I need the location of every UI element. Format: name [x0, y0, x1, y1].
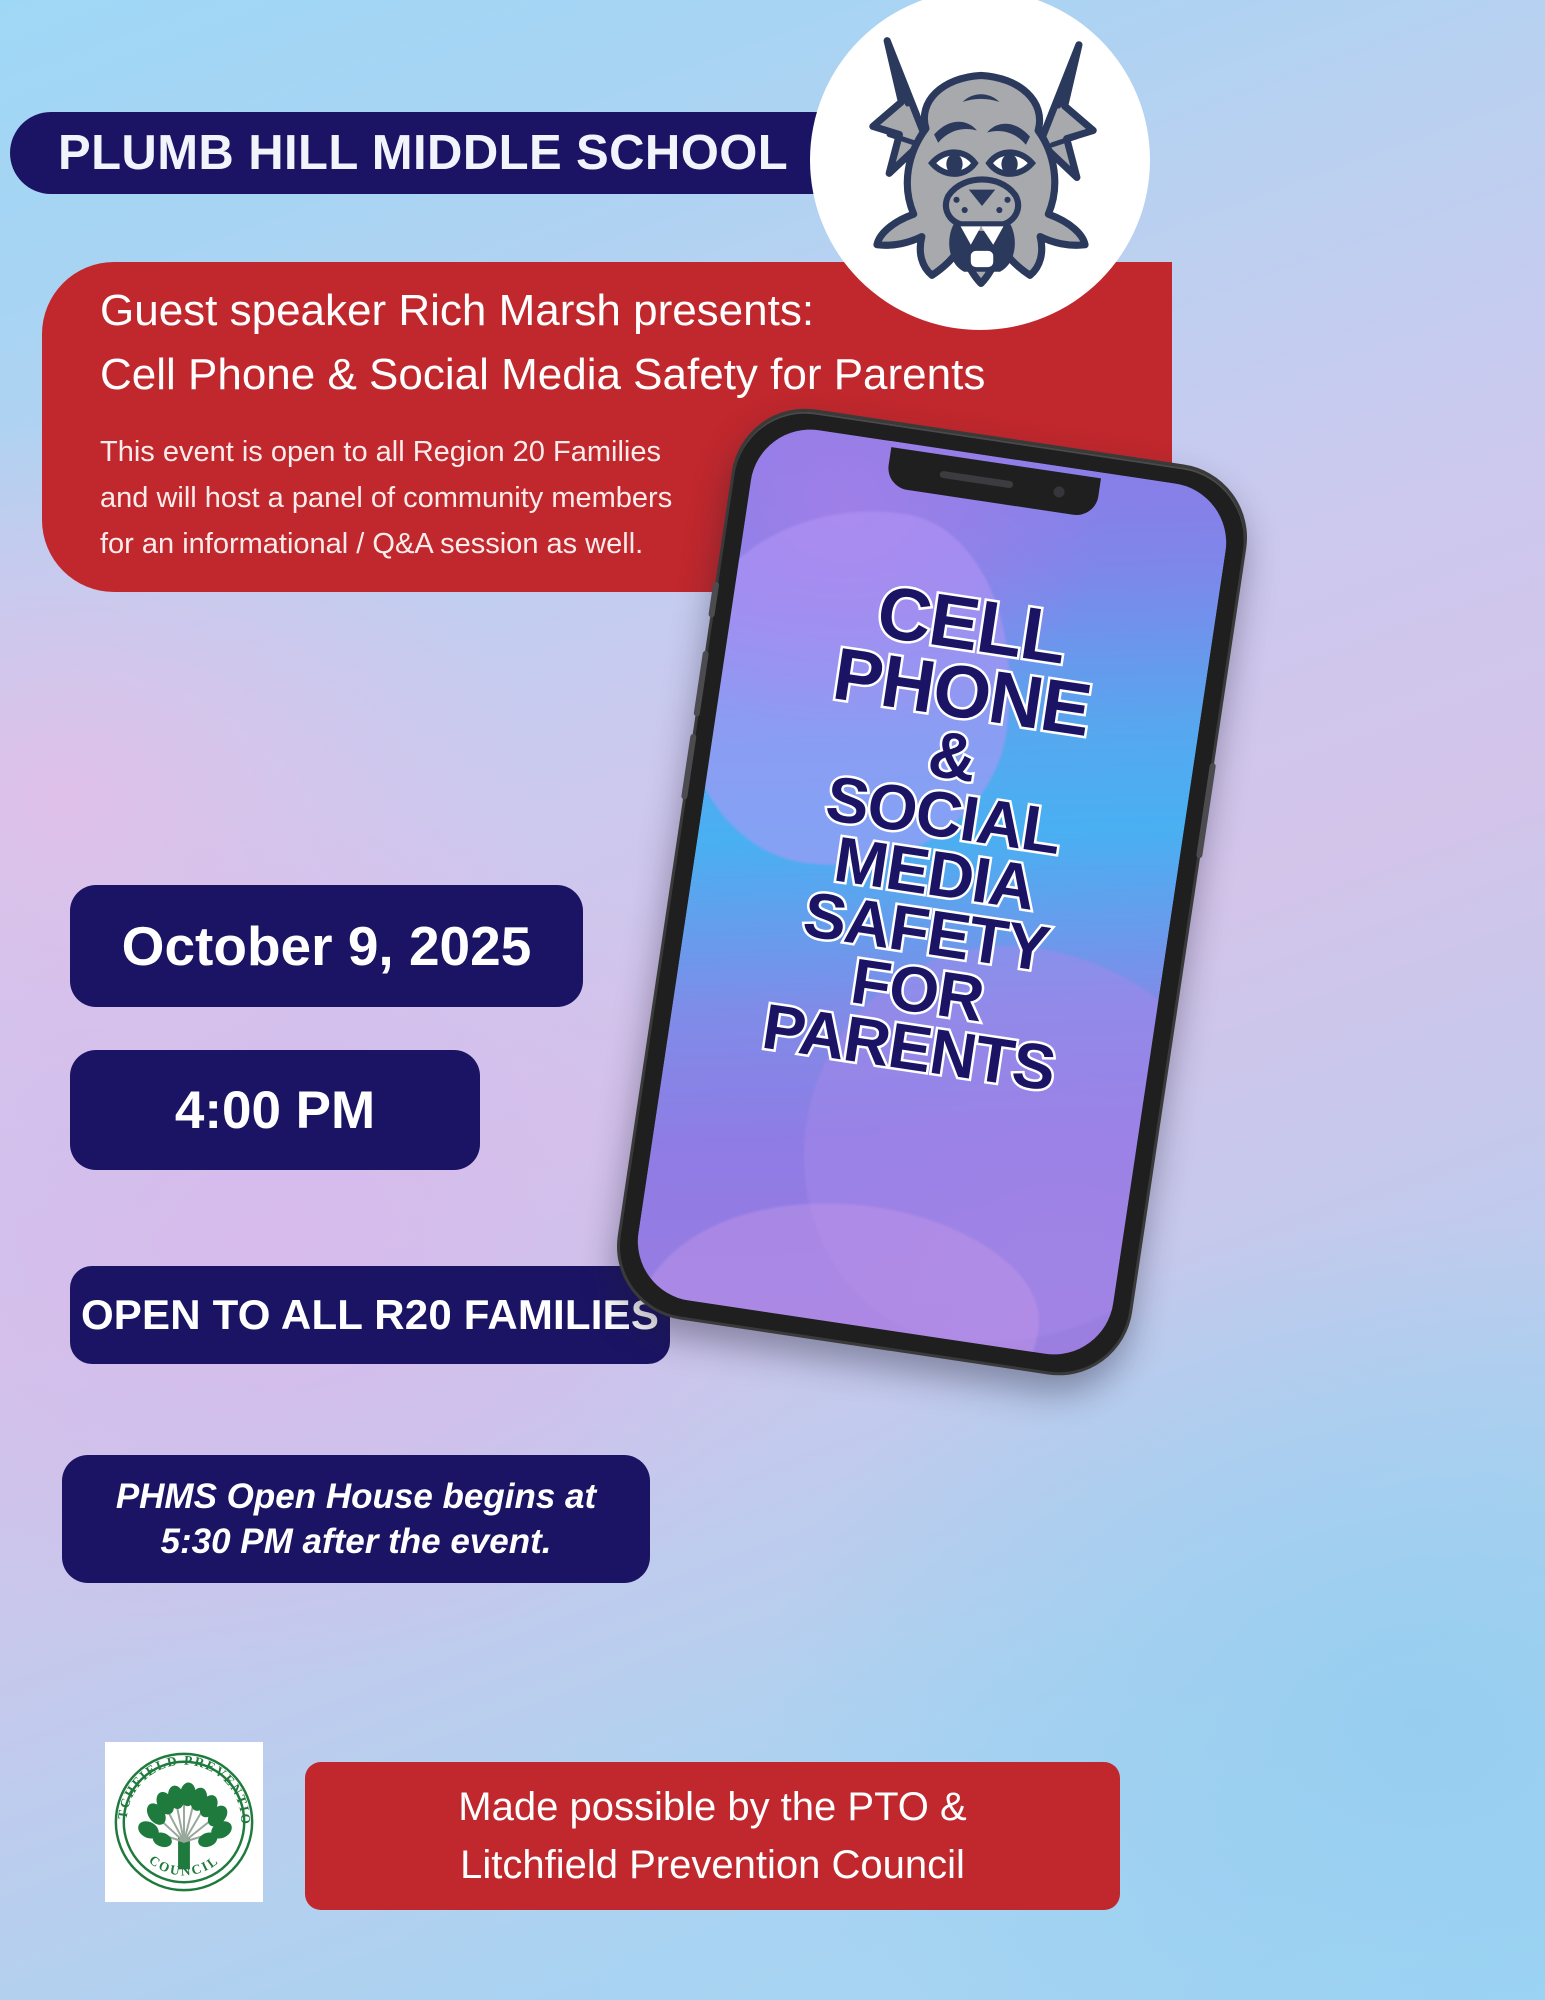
phone-volume-up-button: [693, 651, 709, 717]
flyer-poster: PLUMB HILL MIDDLE SCHOOL Guest speaker R…: [0, 0, 1545, 2000]
open-house-pill: PHMS Open House begins at 5:30 PM after …: [62, 1455, 650, 1583]
description-line-1: This event is open to all Region 20 Fami…: [100, 430, 672, 476]
school-name-label: PLUMB HILL MIDDLE SCHOOL: [10, 125, 788, 181]
credits-line-2: Litchfield Prevention Council: [460, 1836, 965, 1894]
credits-banner: Made possible by the PTO & Litchfield Pr…: [305, 1762, 1120, 1910]
headline-line-1: Guest speaker Rich Marsh presents:: [100, 282, 814, 339]
phone-volume-down-button: [681, 734, 697, 800]
phone-earpiece-speaker: [939, 471, 1013, 489]
phone-screen-title: CELL PHONE & SOCIAL MEDIA SAFETY FOR PAR…: [667, 556, 1214, 1113]
event-description: This event is open to all Region 20 Fami…: [100, 430, 672, 567]
open-house-line-2: 5:30 PM after the event.: [161, 1519, 552, 1565]
phone-notch: [885, 447, 1101, 518]
phone-front-camera: [1053, 486, 1066, 499]
phone-screen: CELL PHONE & SOCIAL MEDIA SAFETY FOR PAR…: [630, 421, 1235, 1362]
description-line-2: and will host a panel of community membe…: [100, 476, 672, 522]
open-house-line-1: PHMS Open House begins at: [116, 1474, 596, 1520]
litchfield-prevention-council-logo: LITCHFIELD PREVENTION COUNCIL: [105, 1742, 263, 1902]
bobcat-mascot-icon: [828, 4, 1134, 310]
event-time-pill: 4:00 PM: [70, 1050, 480, 1170]
event-audience-pill: OPEN TO ALL R20 FAMILIES: [70, 1266, 670, 1364]
event-date-pill: October 9, 2025: [70, 885, 583, 1007]
credits-line-1: Made possible by the PTO &: [458, 1778, 966, 1836]
phone-power-button: [1196, 763, 1216, 859]
school-mascot-badge: [810, 0, 1150, 330]
description-line-3: for an informational / Q&A session as we…: [100, 522, 672, 568]
tree-logo-icon: LITCHFIELD PREVENTION COUNCIL: [105, 1742, 263, 1902]
headline-line-2: Cell Phone & Social Media Safety for Par…: [100, 346, 985, 403]
